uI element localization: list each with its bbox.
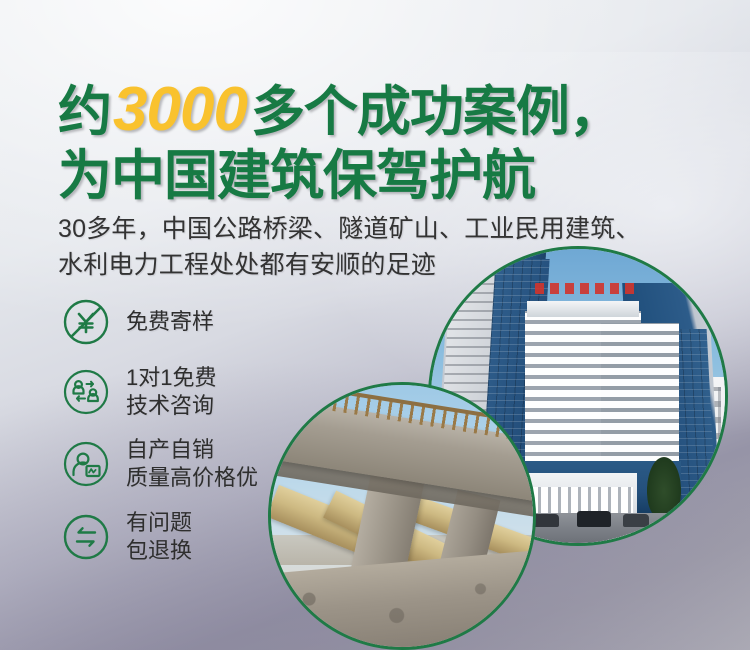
- feature-label: 有问题 包退换: [126, 509, 192, 565]
- feature-item-free-sample[interactable]: 免费寄样: [60, 296, 360, 348]
- rooftop-red-sign: [535, 283, 637, 294]
- feature-label-line: 技术咨询: [126, 392, 216, 420]
- feature-label: 1对1免费 技术咨询: [126, 364, 216, 420]
- tree: [647, 457, 681, 519]
- headline-number: 3000: [111, 75, 251, 144]
- feature-item-self-production[interactable]: 自产自销 质量高价格优: [60, 436, 360, 492]
- feature-label-line: 质量高价格优: [126, 464, 258, 492]
- self-production-sales-icon: [60, 438, 112, 490]
- subtitle-line-1: 30多年，中国公路桥梁、隧道矿山、工业民用建筑、: [58, 212, 748, 248]
- feature-label-line: 1对1免费: [126, 364, 216, 392]
- feature-label-line: 包退换: [126, 537, 192, 565]
- feature-label-line: 免费寄样: [126, 308, 214, 336]
- headline-line-1: 约3000多个成功案例，: [58, 78, 718, 141]
- free-sample-icon: [60, 296, 112, 348]
- headline-prefix: 约: [58, 82, 111, 142]
- headline-line-2: 为中国建筑保驾护航: [58, 149, 718, 204]
- feature-label: 自产自销 质量高价格优: [126, 436, 258, 492]
- headline-suffix: 多个成功案例，: [251, 82, 622, 142]
- feature-label-line: 自产自销: [126, 436, 258, 464]
- return-exchange-icon: [60, 511, 112, 563]
- feature-item-one-on-one[interactable]: 1对1免费 技术咨询: [60, 364, 360, 420]
- car: [623, 514, 649, 527]
- car: [577, 511, 611, 527]
- headline: 约3000多个成功案例， 为中国建筑保驾护航: [58, 78, 718, 204]
- promo-poster: 约3000多个成功案例， 为中国建筑保驾护航 30多年，中国公路桥梁、隧道矿山、…: [0, 0, 750, 650]
- feature-item-return-exchange[interactable]: 有问题 包退换: [60, 509, 360, 565]
- mid-crown: [527, 301, 639, 317]
- one-on-one-consult-icon: [60, 366, 112, 418]
- feature-label: 免费寄样: [126, 308, 214, 336]
- feature-label-line: 有问题: [126, 509, 192, 537]
- feature-list: 免费寄样 1对1免费 技术咨询: [60, 296, 360, 581]
